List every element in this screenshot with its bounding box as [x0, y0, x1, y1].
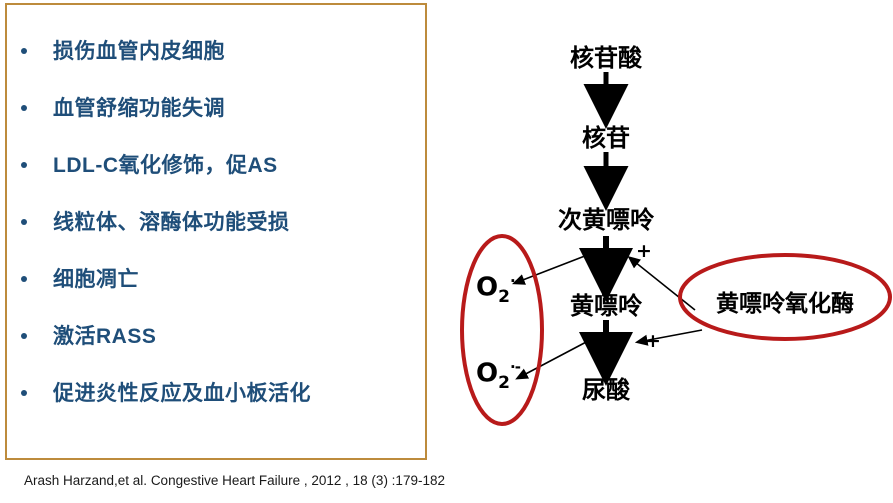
plus-label-lower: +: [645, 330, 661, 352]
superoxide-radical-mark: ·-: [510, 272, 520, 290]
bullet-panel: 损伤血管内皮细胞 血管舒缩功能失调 LDL-C氧化修饰，促AS 线粒体、溶酶体功…: [5, 3, 427, 460]
superoxide-symbol: O: [476, 359, 498, 389]
list-item: 激活RASS: [7, 306, 425, 363]
node-uric-acid: 尿酸: [582, 370, 630, 405]
list-item: 血管舒缩功能失调: [7, 78, 425, 135]
node-xanthine: 黄嘌呤: [570, 286, 642, 321]
bullet-dot-icon: [21, 219, 27, 225]
superoxide-symbol: O: [476, 273, 498, 303]
bullet-label: 细胞凋亡: [53, 263, 139, 293]
node-superoxide-lower: O2·-: [476, 358, 520, 393]
node-xanthine-oxidase: 黄嘌呤氧化酶: [716, 284, 854, 318]
bullet-label: 损伤血管内皮细胞: [53, 35, 225, 65]
bullet-dot-icon: [21, 333, 27, 339]
superoxide-subscript: 2: [498, 373, 510, 393]
bullet-dot-icon: [21, 162, 27, 168]
bullet-label: 激活RASS: [53, 320, 156, 350]
bullet-label: 血管舒缩功能失调: [53, 92, 225, 122]
list-item: 细胞凋亡: [7, 249, 425, 306]
bullet-label: 线粒体、溶酶体功能受损: [53, 206, 290, 236]
purine-metabolism-diagram: 核苷酸 核苷 次黄嘌呤 黄嘌呤 尿酸 黄嘌呤氧化酶 O2·- O2·- + +: [440, 0, 893, 460]
list-item: 线粒体、溶酶体功能受损: [7, 192, 425, 249]
node-superoxide-upper: O2·-: [476, 272, 520, 307]
list-item: 损伤血管内皮细胞: [7, 21, 425, 78]
plus-label-upper: +: [636, 240, 652, 262]
bullet-label: LDL-C氧化修饰，促AS: [53, 149, 278, 179]
superoxide-subscript: 2: [498, 287, 510, 307]
node-nucleotide: 核苷酸: [570, 38, 642, 73]
bullet-label: 促进炎性反应及血小板活化: [53, 377, 311, 407]
superoxide-highlight-ellipse: [462, 236, 542, 424]
bullet-dot-icon: [21, 390, 27, 396]
bullet-list: 损伤血管内皮细胞 血管舒缩功能失调 LDL-C氧化修饰，促AS 线粒体、溶酶体功…: [7, 21, 425, 420]
arrow-step-to-superoxide-lower: [518, 340, 590, 378]
bullet-dot-icon: [21, 48, 27, 54]
node-hypoxanthine: 次黄嘌呤: [558, 200, 654, 235]
superoxide-radical-mark: ·-: [510, 358, 520, 376]
list-item: 促进炎性反应及血小板活化: [7, 363, 425, 420]
bullet-dot-icon: [21, 105, 27, 111]
list-item: LDL-C氧化修饰，促AS: [7, 135, 425, 192]
bullet-dot-icon: [21, 276, 27, 282]
node-nucleoside: 核苷: [582, 118, 630, 153]
citation-text: Arash Harzand,et al. Congestive Heart Fa…: [24, 473, 445, 488]
